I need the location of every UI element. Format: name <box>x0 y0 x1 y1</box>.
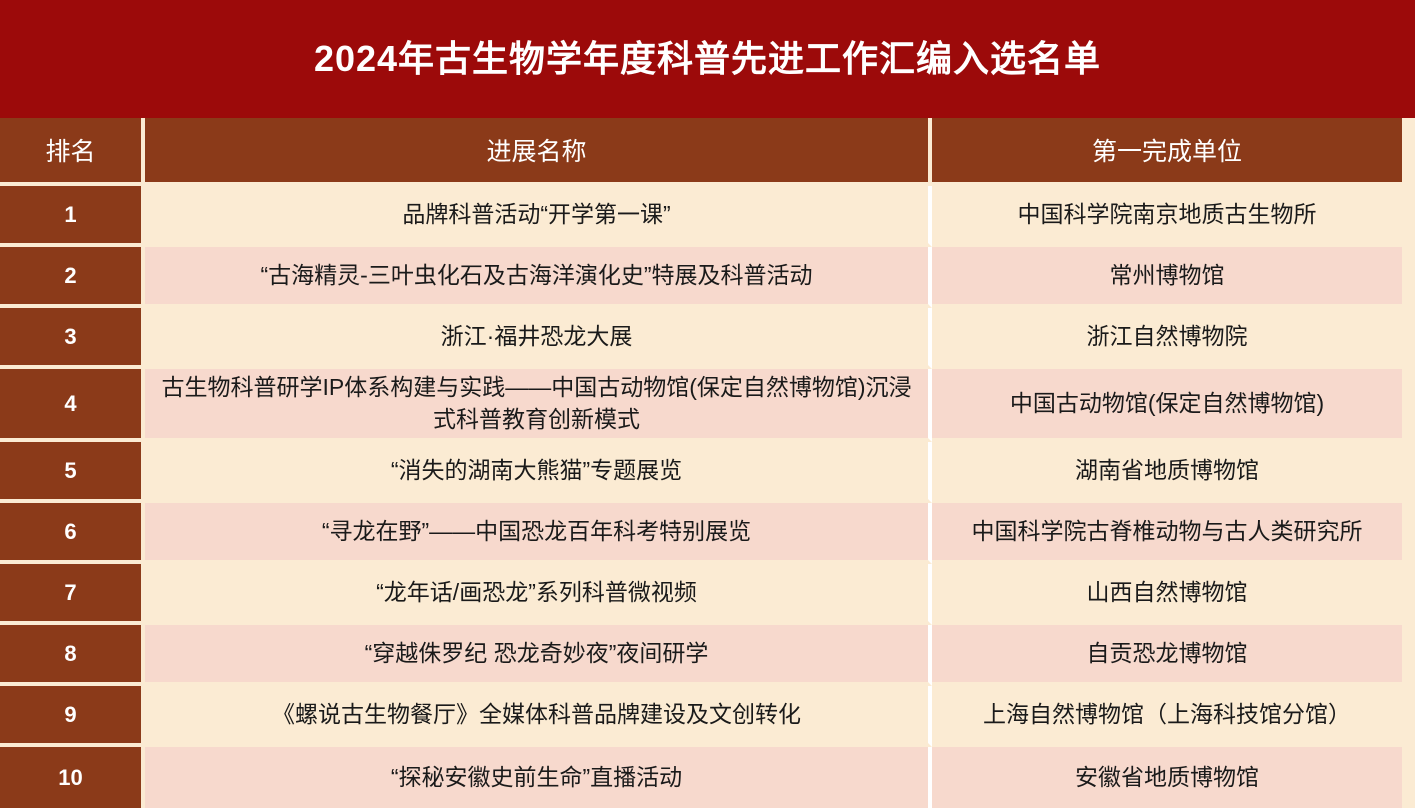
cell-rank: 5 <box>0 442 145 503</box>
table-row: 9 《螺说古生物餐厅》全媒体科普品牌建设及文创转化 上海自然博物馆（上海科技馆分… <box>0 686 1402 747</box>
table-row: 6 “寻龙在野”——中国恐龙百年科考特别展览 中国科学院古脊椎动物与古人类研究所 <box>0 503 1402 564</box>
cell-rank: 6 <box>0 503 145 564</box>
table-row: 2 “古海精灵-三叶虫化石及古海洋演化史”特展及科普活动 常州博物馆 <box>0 247 1402 308</box>
cell-unit: 安徽省地质博物馆 <box>932 747 1402 808</box>
cell-rank: 2 <box>0 247 145 308</box>
cell-unit: 常州博物馆 <box>932 247 1402 308</box>
table-row: 4 古生物科普研学IP体系构建与实践——中国古动物馆(保定自然博物馆)沉浸式科普… <box>0 369 1402 442</box>
cell-unit: 中国科学院南京地质古生物所 <box>932 186 1402 247</box>
cell-name: “消失的湖南大熊猫”专题展览 <box>145 442 932 503</box>
cell-rank: 10 <box>0 747 145 808</box>
table-row: 3 浙江·福井恐龙大展 浙江自然博物院 <box>0 308 1402 369</box>
table-row: 7 “龙年话/画恐龙”系列科普微视频 山西自然博物馆 <box>0 564 1402 625</box>
cell-rank: 3 <box>0 308 145 369</box>
table-row: 5 “消失的湖南大熊猫”专题展览 湖南省地质博物馆 <box>0 442 1402 503</box>
cell-name: “寻龙在野”——中国恐龙百年科考特别展览 <box>145 503 932 564</box>
column-header-rank: 排名 <box>0 118 145 186</box>
page-title: 2024年古生物学年度科普先进工作汇编入选名单 <box>314 39 1101 79</box>
table-row: 10 “探秘安徽史前生命”直播活动 安徽省地质博物馆 <box>0 747 1402 808</box>
cell-rank: 9 <box>0 686 145 747</box>
cell-unit: 浙江自然博物院 <box>932 308 1402 369</box>
cell-name: 《螺说古生物餐厅》全媒体科普品牌建设及文创转化 <box>145 686 932 747</box>
cell-unit: 中国科学院古脊椎动物与古人类研究所 <box>932 503 1402 564</box>
title-banner: 2024年古生物学年度科普先进工作汇编入选名单 <box>0 0 1415 118</box>
cell-unit: 自贡恐龙博物馆 <box>932 625 1402 686</box>
cell-rank: 4 <box>0 369 145 442</box>
cell-unit: 中国古动物馆(保定自然博物馆) <box>932 369 1402 442</box>
column-header-name: 进展名称 <box>145 118 932 186</box>
page-root: 2024年古生物学年度科普先进工作汇编入选名单 排名 进展名称 第一完成单位 1… <box>0 0 1415 808</box>
cell-name: 浙江·福井恐龙大展 <box>145 308 932 369</box>
table-header: 排名 进展名称 第一完成单位 <box>0 118 1402 186</box>
award-list-table: 排名 进展名称 第一完成单位 1 品牌科普活动“开学第一课” 中国科学院南京地质… <box>0 118 1402 808</box>
table-body: 1 品牌科普活动“开学第一课” 中国科学院南京地质古生物所 2 “古海精灵-三叶… <box>0 186 1402 808</box>
column-header-unit: 第一完成单位 <box>932 118 1402 186</box>
cell-name: 品牌科普活动“开学第一课” <box>145 186 932 247</box>
table-header-row: 排名 进展名称 第一完成单位 <box>0 118 1402 186</box>
cell-name: “探秘安徽史前生命”直播活动 <box>145 747 932 808</box>
table-row: 1 品牌科普活动“开学第一课” 中国科学院南京地质古生物所 <box>0 186 1402 247</box>
cell-rank: 8 <box>0 625 145 686</box>
cell-rank: 7 <box>0 564 145 625</box>
cell-name: “古海精灵-三叶虫化石及古海洋演化史”特展及科普活动 <box>145 247 932 308</box>
cell-unit: 山西自然博物馆 <box>932 564 1402 625</box>
table-row: 8 “穿越侏罗纪 恐龙奇妙夜”夜间研学 自贡恐龙博物馆 <box>0 625 1402 686</box>
cell-name: “龙年话/画恐龙”系列科普微视频 <box>145 564 932 625</box>
cell-unit: 湖南省地质博物馆 <box>932 442 1402 503</box>
cell-unit: 上海自然博物馆（上海科技馆分馆） <box>932 686 1402 747</box>
cell-name: 古生物科普研学IP体系构建与实践——中国古动物馆(保定自然博物馆)沉浸式科普教育… <box>145 369 932 442</box>
cell-rank: 1 <box>0 186 145 247</box>
cell-name: “穿越侏罗纪 恐龙奇妙夜”夜间研学 <box>145 625 932 686</box>
